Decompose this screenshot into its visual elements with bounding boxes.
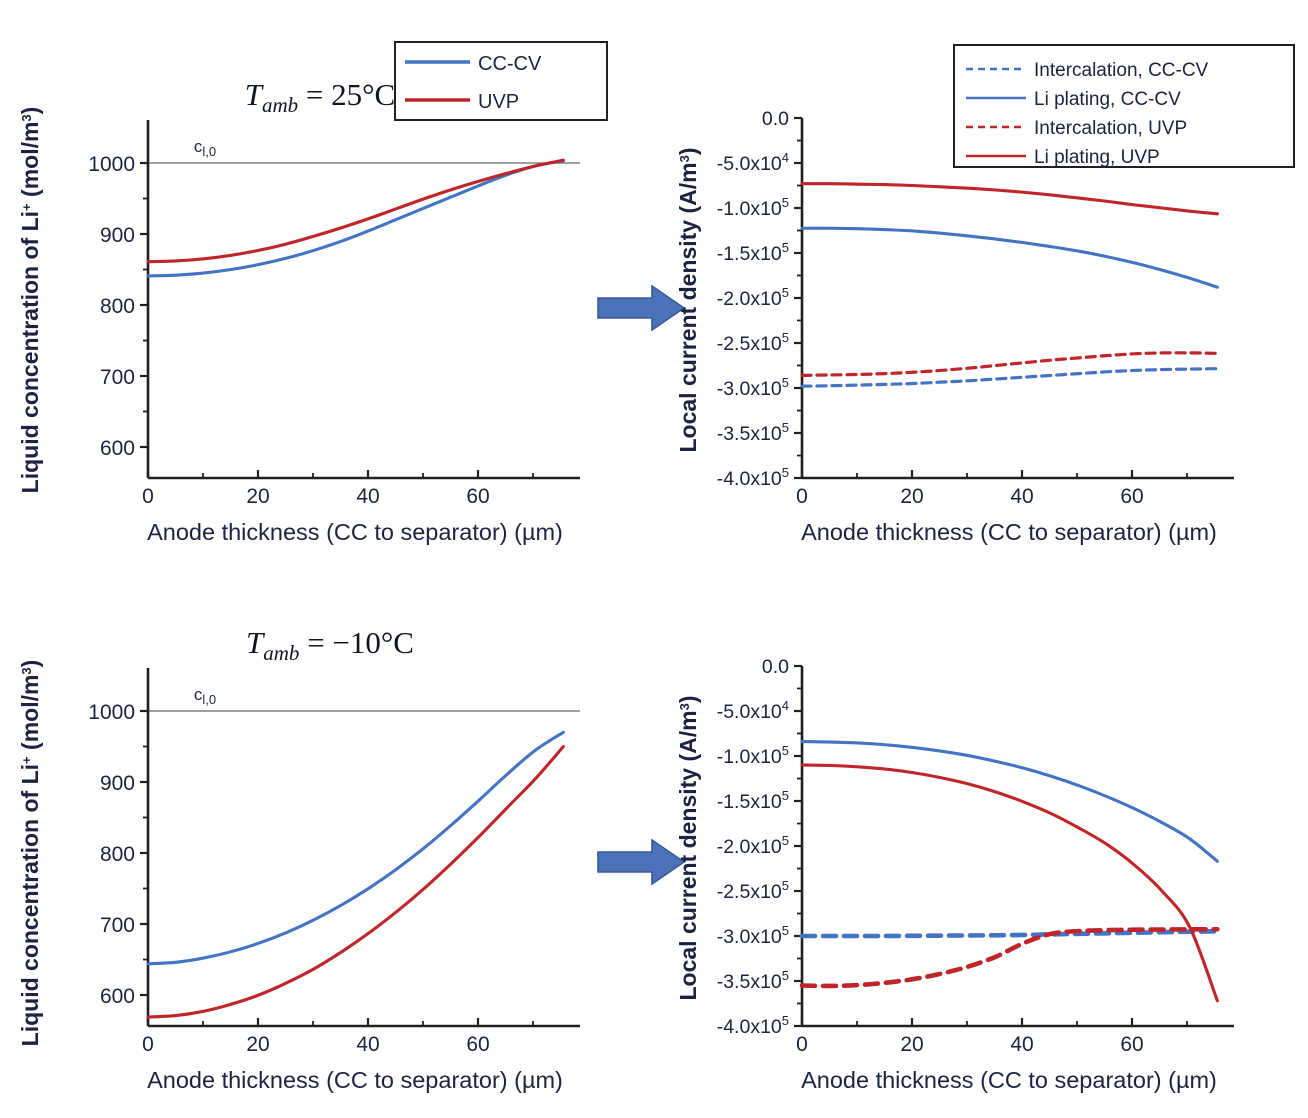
y-tick-label: -5.0x104: [717, 150, 789, 175]
plot-title-tamb: Tamb = −10°C: [246, 625, 414, 665]
y-tick-label: -1.5x105: [717, 240, 789, 265]
x-tick-label: 20: [900, 485, 923, 508]
y-tick-label: -2.5x105: [717, 878, 789, 903]
x-tick-label: 20: [900, 1033, 923, 1056]
y-axis-title: Local current density (A/m3): [675, 147, 701, 452]
y-tick-labels: 1000 900 800 700 600: [88, 701, 135, 1008]
y-tick-label: 1000: [88, 153, 135, 176]
y-tick-label: -3.5x105: [717, 420, 789, 445]
y-tick-labels: 0.0-5.0x104-1.0x105-1.5x105-2.0x105-2.5x…: [717, 656, 789, 1038]
x-tick-label: 60: [1120, 485, 1143, 508]
series-line-uvp: [148, 747, 563, 1018]
chart-top-left: 1000 900 800 700 600 0 20 40 60 cl,0 Tam…: [0, 0, 654, 560]
legend-label-li-plating-cc-cv: Li plating, CC-CV: [1034, 89, 1181, 110]
y-tick-label: 0.0: [762, 108, 789, 130]
panel-top-left: 1000 900 800 700 600 0 20 40 60 cl,0 Tam…: [0, 0, 654, 560]
x-tick-label: 60: [1120, 1033, 1143, 1056]
y-tick-label: -3.0x105: [717, 375, 789, 400]
y-tick-label: -3.0x105: [717, 923, 789, 948]
chart-bottom-right: 0.0-5.0x104-1.0x105-1.5x105-2.0x105-2.5x…: [654, 558, 1308, 1118]
x-tick-label: 60: [466, 1033, 489, 1056]
annotation-cl0: cl,0: [194, 685, 216, 707]
legend-top-left[interactable]: CC-CV UVP: [395, 42, 607, 120]
y-tick-label: 600: [100, 985, 135, 1008]
series-line-li-plating-uvp: [802, 765, 1217, 1001]
legend-label-intercalation-uvp: Intercalation, UVP: [1034, 118, 1187, 139]
y-tick-label: 0.0: [762, 656, 789, 678]
y-tick-label: -5.0x104: [717, 698, 789, 723]
series-line-li-plating-cc-cv: [802, 742, 1217, 862]
y-tick-label: 900: [100, 224, 135, 247]
plot-area-top-left: 1000 900 800 700 600 0 20 40 60 cl,0: [88, 120, 580, 508]
y-tick-label: -2.5x105: [717, 330, 789, 355]
y-tick-label: 600: [100, 437, 135, 460]
series-line-uvp: [148, 160, 563, 262]
x-tick-labels: 0 20 40 60: [796, 1033, 1144, 1056]
y-tick-label: -2.0x105: [717, 285, 789, 310]
y-tick-label: -1.0x105: [717, 743, 789, 768]
y-axis-title: Liquid concentration of Li+ (mol/m3): [17, 660, 43, 1047]
y-tick-label: -1.0x105: [717, 195, 789, 220]
x-axis-title: Anode thickness (CC to separator) (µm): [147, 519, 563, 545]
y-axis-title: Liquid concentration of Li+ (mol/m3): [17, 107, 43, 494]
panel-top-right: 0.0-5.0x104-1.0x105-1.5x105-2.0x105-2.5x…: [654, 0, 1308, 560]
legend-label-li-plating-uvp: Li plating, UVP: [1034, 147, 1160, 168]
x-tick-label: 40: [356, 1033, 379, 1056]
panel-bottom-left: 1000 900 800 700 600 0 20 40 60 cl,0 Tam…: [0, 558, 654, 1118]
y-tick-label: -3.5x105: [717, 968, 789, 993]
x-tick-label: 20: [246, 485, 269, 508]
series-line-intercalation-cc-cv: [802, 369, 1217, 387]
legend-label-intercalation-cc-cv: Intercalation, CC-CV: [1034, 60, 1209, 81]
x-axis-title: Anode thickness (CC to separator) (µm): [801, 1067, 1217, 1093]
y-tick-label: 700: [100, 366, 135, 389]
x-tick-label: 60: [466, 485, 489, 508]
legend-top-right[interactable]: Intercalation, CC-CV Li plating, CC-CV I…: [954, 45, 1294, 168]
plot-area-bottom-left: 1000 900 800 700 600 0 20 40 60 cl,0: [88, 668, 580, 1056]
y-tick-label: 700: [100, 914, 135, 937]
x-tick-label: 40: [1010, 1033, 1033, 1056]
x-tick-label: 0: [796, 1033, 808, 1056]
y-tick-label: 800: [100, 295, 135, 318]
x-axis-title: Anode thickness (CC to separator) (µm): [801, 519, 1217, 545]
series-line-li-plating-uvp: [802, 184, 1217, 214]
x-tick-labels: 0 20 40 60: [796, 485, 1144, 508]
y-tick-labels: 1000 900 800 700 600: [88, 153, 135, 460]
y-axis-title: Local current density (A/m3): [675, 695, 701, 1000]
chart-top-right: 0.0-5.0x104-1.0x105-1.5x105-2.0x105-2.5x…: [654, 0, 1308, 560]
series-line-intercalation-uvp: [802, 353, 1217, 376]
annotation-cl0: cl,0: [194, 137, 216, 159]
plot-title-tamb: Tamb = 25°C: [245, 77, 395, 117]
legend-label-uvp: UVP: [478, 91, 519, 113]
x-tick-label: 0: [142, 485, 154, 508]
series-line-intercalation-cc-cv: [802, 931, 1217, 936]
y-tick-labels: 0.0-5.0x104-1.0x105-1.5x105-2.0x105-2.5x…: [717, 108, 789, 490]
x-axis-title: Anode thickness (CC to separator) (µm): [147, 1067, 563, 1093]
x-tick-label: 0: [796, 485, 808, 508]
plot-area-bottom-right: 0.0-5.0x104-1.0x105-1.5x105-2.0x105-2.5x…: [717, 656, 1234, 1056]
x-tick-label: 0: [142, 1033, 154, 1056]
y-tick-label: -4.0x105: [717, 465, 789, 490]
panel-bottom-right: 0.0-5.0x104-1.0x105-1.5x105-2.0x105-2.5x…: [654, 558, 1308, 1118]
series-line-cc-cv: [148, 732, 563, 963]
y-tick-label: 900: [100, 772, 135, 795]
x-tick-label: 20: [246, 1033, 269, 1056]
y-tick-label: 1000: [88, 701, 135, 724]
series-line-li-plating-cc-cv: [802, 228, 1217, 287]
y-tick-label: -1.5x105: [717, 788, 789, 813]
legend-label-cc-cv: CC-CV: [478, 53, 542, 75]
x-tick-label: 40: [356, 485, 379, 508]
x-tick-label: 40: [1010, 485, 1033, 508]
y-tick-label: -4.0x105: [717, 1013, 789, 1038]
y-tick-label: -2.0x105: [717, 833, 789, 858]
x-tick-labels: 0 20 40 60: [142, 1033, 490, 1056]
x-tick-labels: 0 20 40 60: [142, 485, 490, 508]
chart-bottom-left: 1000 900 800 700 600 0 20 40 60 cl,0 Tam…: [0, 558, 654, 1118]
y-tick-label: 800: [100, 843, 135, 866]
